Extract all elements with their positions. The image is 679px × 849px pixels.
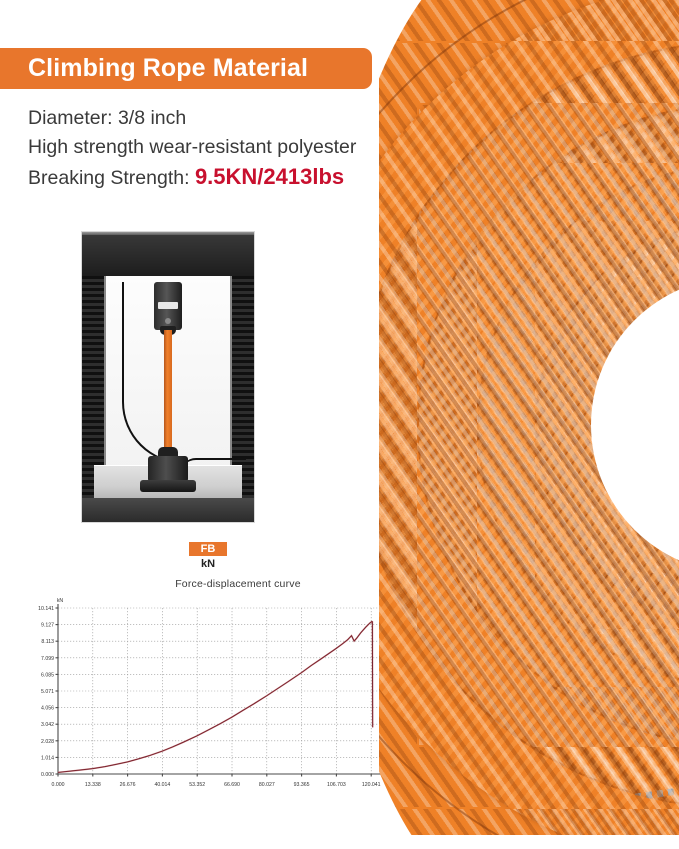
x-tick-label: 93.365 xyxy=(294,782,310,788)
x-tick-label: 26.676 xyxy=(120,782,136,788)
x-tick-label: 66.690 xyxy=(224,782,240,788)
curve-highlight xyxy=(58,621,373,772)
x-tick-label: 40.014 xyxy=(154,782,170,788)
machine-hood-highlight xyxy=(82,232,254,235)
x-tick-label: 120.041 xyxy=(362,782,381,788)
fb-badge-label: FB xyxy=(201,544,216,555)
machine-floor xyxy=(82,498,254,522)
y-tick-label: 6.085 xyxy=(41,672,54,678)
fb-unit-label: kN xyxy=(189,558,227,570)
y-axis-unit-label: kN xyxy=(57,598,64,604)
y-tick-label: 9.127 xyxy=(41,623,54,629)
spec-list: Diameter: 3/8 inch High strength wear-re… xyxy=(28,104,418,193)
force-displacement-chart: Force-displacement curve 0.0001.0142.028… xyxy=(18,578,418,803)
machine-top-hood xyxy=(82,232,254,276)
y-tick-label: 1.014 xyxy=(41,755,54,761)
spec-material: High strength wear-resistant polyester xyxy=(28,133,418,162)
x-tick-label: 53.352 xyxy=(189,782,205,788)
page-title: Climbing Rope Material xyxy=(0,56,308,81)
rope-product-photo xyxy=(379,0,679,835)
y-tick-label: 5.071 xyxy=(41,689,54,695)
y-tick-label: 0.000 xyxy=(41,772,54,778)
y-tick-label: 3.042 xyxy=(41,722,54,728)
machine-grip-slot xyxy=(158,302,178,309)
spec-breaking-strength-label: Breaking Strength: xyxy=(28,167,195,189)
x-tick-label: 106.703 xyxy=(327,782,346,788)
y-tick-label: 7.099 xyxy=(41,656,54,662)
machine-lower-grip xyxy=(148,456,188,482)
y-tick-label: 8.113 xyxy=(41,639,54,645)
machine-lower-flange xyxy=(140,480,196,492)
header-banner: Climbing Rope Material xyxy=(0,48,372,89)
x-tick-label: 0.000 xyxy=(52,782,65,788)
spec-breaking-strength: Breaking Strength: 9.5KN/2413lbs xyxy=(28,162,418,193)
tensile-test-machine-photo xyxy=(82,232,254,522)
fb-badge: FB xyxy=(189,542,227,556)
y-tick-label: 10.141 xyxy=(38,606,54,612)
force-displacement-curve xyxy=(58,621,373,772)
spec-breaking-strength-value: 9.5KN/2413lbs xyxy=(195,164,344,189)
y-tick-label: 2.028 xyxy=(41,739,54,745)
rope-coil-mask xyxy=(379,0,679,835)
machine-grip-bolt xyxy=(165,318,171,324)
chart-svg: 0.0001.0142.0283.0424.0565.0716.0857.099… xyxy=(18,596,418,796)
x-tick-label: 80.027 xyxy=(259,782,275,788)
spec-diameter: Diameter: 3/8 inch xyxy=(28,104,418,133)
chart-title: Force-displacement curve xyxy=(18,578,418,590)
y-tick-label: 4.056 xyxy=(41,706,54,712)
rope-specimen xyxy=(164,330,172,452)
x-tick-label: 13.338 xyxy=(85,782,101,788)
